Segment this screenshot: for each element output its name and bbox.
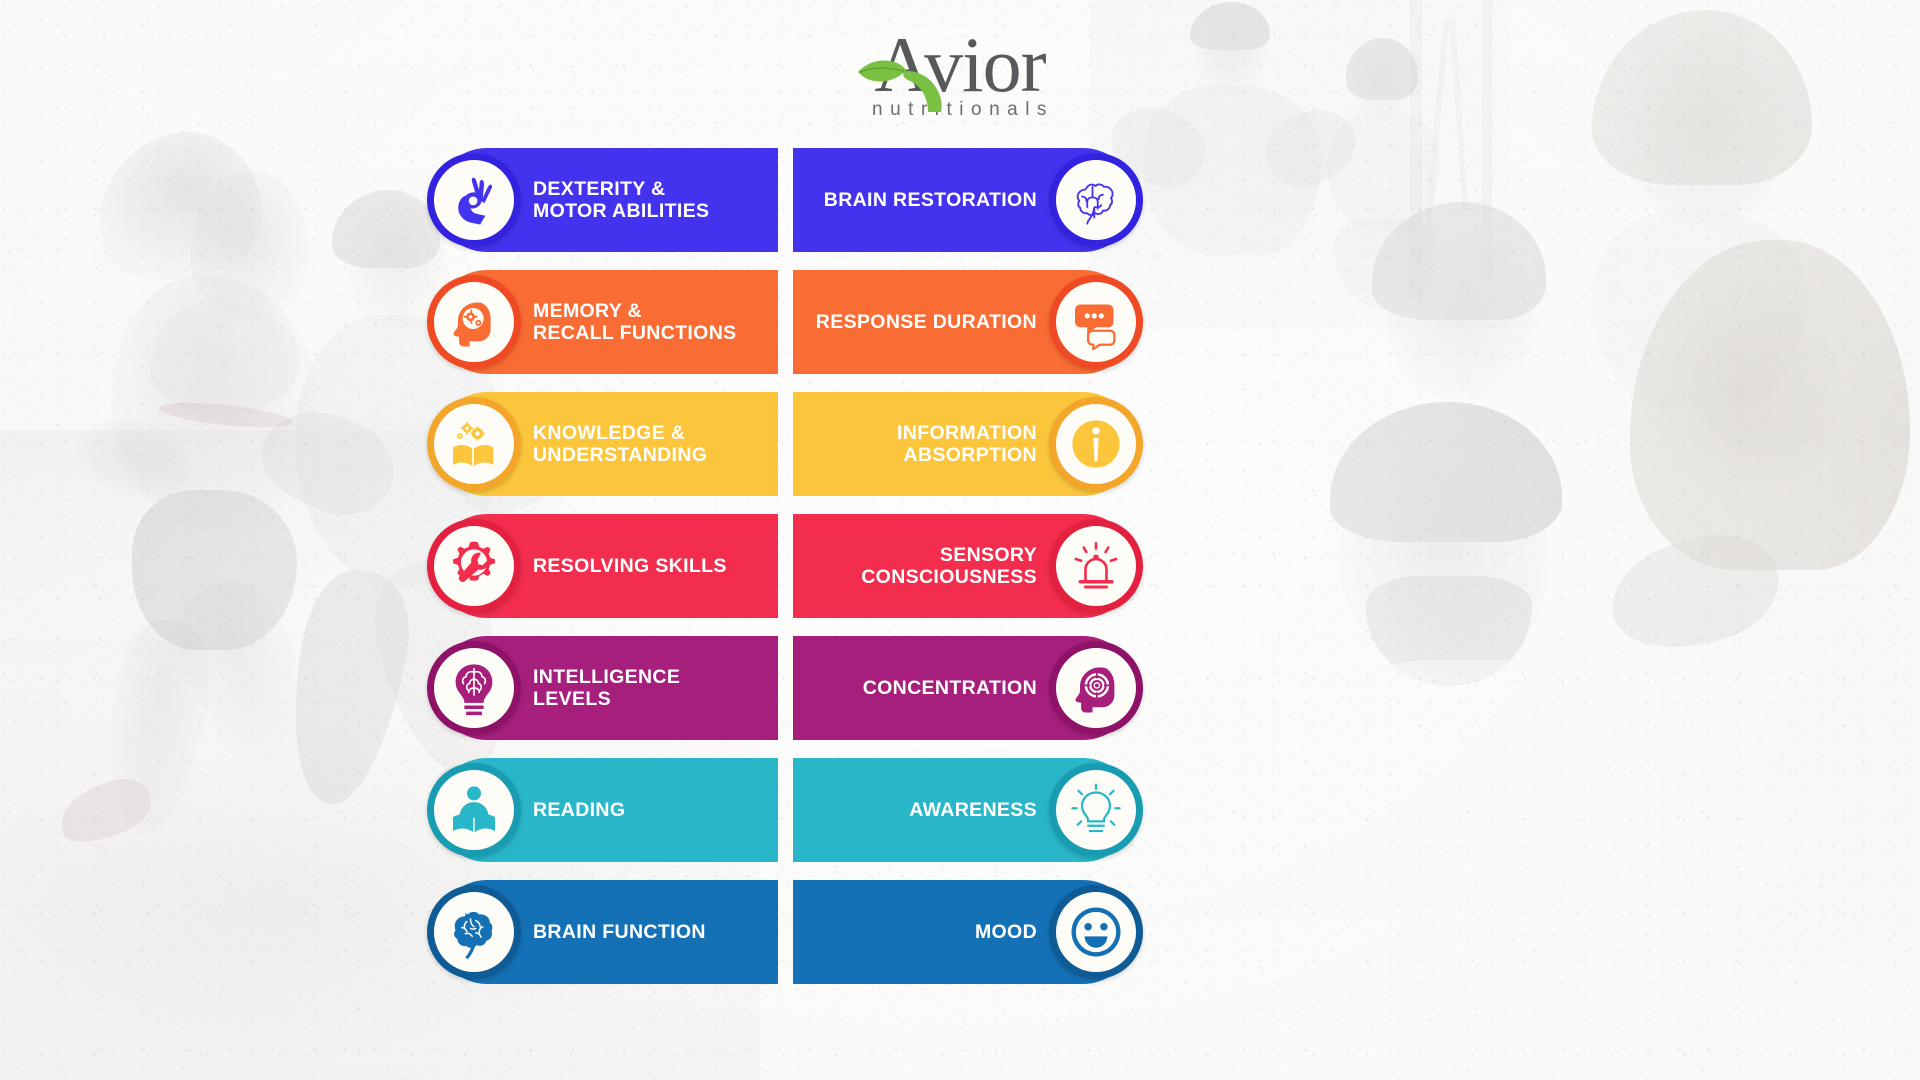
brain-solid-icon-badge: [427, 885, 521, 979]
benefit-label: RESPONSE DURATION: [816, 311, 1037, 333]
benefit-label: KNOWLEDGE & UNDERSTANDING: [533, 422, 707, 466]
lightbulb-icon-badge: [1049, 763, 1143, 857]
benefits-grid: DEXTERITY & MOTOR ABILITIES BRAIN RESTOR…: [435, 148, 1135, 1002]
smiley-face-icon: [1068, 904, 1124, 960]
benefit-label: DEXTERITY & MOTOR ABILITIES: [533, 178, 709, 222]
head-target-icon-badge: [1049, 641, 1143, 735]
info-circle-icon-badge: [1049, 397, 1143, 491]
benefit-row: MEMORY & RECALL FUNCTIONS RESPONSE DURAT…: [435, 270, 1135, 374]
brand-logo: Avior nutritionals: [830, 28, 1090, 121]
benefit-reading[interactable]: READING: [435, 758, 778, 862]
benefit-dexterity-motor-abilities[interactable]: DEXTERITY & MOTOR ABILITIES: [435, 148, 778, 252]
benefit-label: BRAIN FUNCTION: [533, 921, 706, 943]
benefit-row: READING AWARENESS: [435, 758, 1135, 862]
benefit-row: BRAIN FUNCTION MOOD: [435, 880, 1135, 984]
benefit-label: CONCENTRATION: [863, 677, 1037, 699]
benefit-label: INFORMATION ABSORPTION: [897, 422, 1037, 466]
brain-bulb-icon-badge: [427, 641, 521, 735]
benefit-memory-recall-functions[interactable]: MEMORY & RECALL FUNCTIONS: [435, 270, 778, 374]
gear-wrench-icon-badge: [427, 519, 521, 613]
benefit-concentration[interactable]: CONCENTRATION: [793, 636, 1136, 740]
speech-bubbles-icon: [1068, 294, 1124, 350]
benefit-row: INTELLIGENCE LEVELS CONCENTRATION: [435, 636, 1135, 740]
benefit-mood[interactable]: MOOD: [793, 880, 1136, 984]
benefit-label: READING: [533, 799, 625, 821]
speech-bubbles-icon-badge: [1049, 275, 1143, 369]
gear-wrench-icon: [446, 538, 502, 594]
benefit-information-absorption[interactable]: INFORMATION ABSORPTION: [793, 392, 1136, 496]
brain-outline-icon: [1068, 172, 1124, 228]
brain-solid-icon: [446, 904, 502, 960]
benefit-resolving-skills[interactable]: RESOLVING SKILLS: [435, 514, 778, 618]
benefit-sensory-consciousness[interactable]: SENSORY CONSCIOUSNESS: [793, 514, 1136, 618]
smiley-face-icon-badge: [1049, 885, 1143, 979]
brain-outline-icon-badge: [1049, 153, 1143, 247]
benefit-brain-restoration[interactable]: BRAIN RESTORATION: [793, 148, 1136, 252]
benefit-label: AWARENESS: [909, 799, 1037, 821]
benefit-brain-function[interactable]: BRAIN FUNCTION: [435, 880, 778, 984]
benefit-row: DEXTERITY & MOTOR ABILITIES BRAIN RESTOR…: [435, 148, 1135, 252]
benefit-row: KNOWLEDGE & UNDERSTANDING INFORMATION AB…: [435, 392, 1135, 496]
book-gears-icon-badge: [427, 397, 521, 491]
benefit-label: SENSORY CONSCIOUSNESS: [861, 544, 1037, 588]
benefit-label: MOOD: [975, 921, 1037, 943]
ok-hand-icon-badge: [427, 153, 521, 247]
brain-bulb-icon: [446, 660, 502, 716]
alarm-siren-icon-badge: [1049, 519, 1143, 613]
ok-hand-icon: [446, 172, 502, 228]
person-reading-icon-badge: [427, 763, 521, 857]
leaf-icon: [854, 50, 950, 114]
benefit-knowledge-understanding[interactable]: KNOWLEDGE & UNDERSTANDING: [435, 392, 778, 496]
benefit-label: INTELLIGENCE LEVELS: [533, 666, 764, 710]
info-circle-icon: [1068, 416, 1124, 472]
benefit-response-duration[interactable]: RESPONSE DURATION: [793, 270, 1136, 374]
person-reading-icon: [446, 782, 502, 838]
lightbulb-icon: [1068, 782, 1124, 838]
head-gears-icon-badge: [427, 275, 521, 369]
benefit-row: RESOLVING SKILLS SENSORY CONSCIOUSNESS: [435, 514, 1135, 618]
benefit-awareness[interactable]: AWARENESS: [793, 758, 1136, 862]
benefit-label: BRAIN RESTORATION: [824, 189, 1037, 211]
head-gears-icon: [446, 294, 502, 350]
alarm-siren-icon: [1068, 538, 1124, 594]
brand-wordmark: Avior: [874, 28, 1045, 101]
benefit-label: RESOLVING SKILLS: [533, 555, 727, 577]
benefit-intelligence-levels[interactable]: INTELLIGENCE LEVELS: [435, 636, 778, 740]
benefit-label: MEMORY & RECALL FUNCTIONS: [533, 300, 737, 344]
book-gears-icon: [446, 416, 502, 472]
head-target-icon: [1068, 660, 1124, 716]
